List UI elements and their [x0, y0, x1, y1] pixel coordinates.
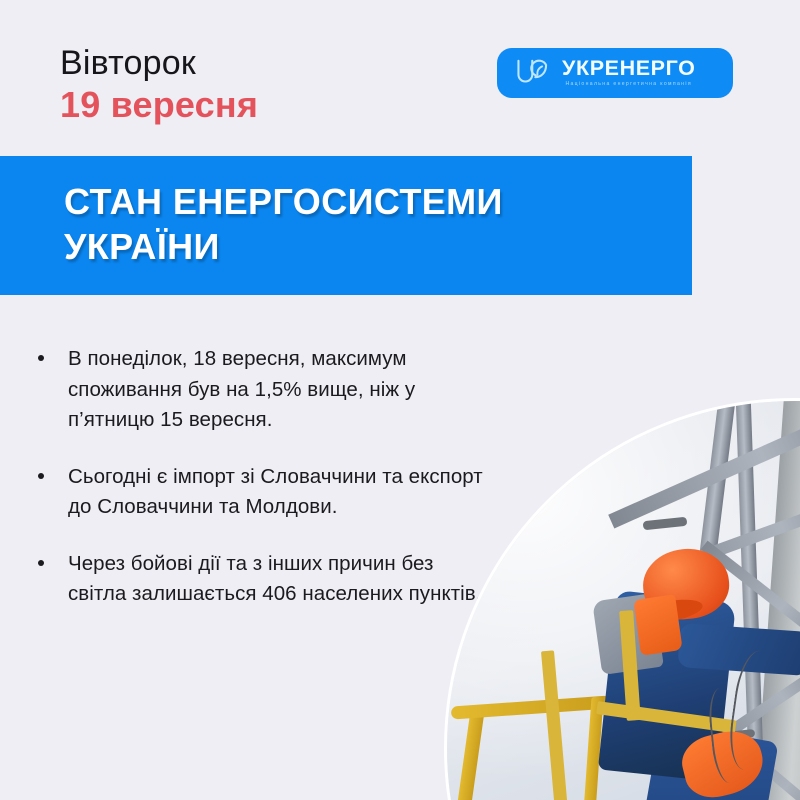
logo-text-group: УКРЕНЕРГО Національна енергетична компан…	[562, 58, 695, 88]
list-item-text: В понеділок, 18 вересня, максимум спожив…	[68, 347, 415, 431]
date-header: Вівторок 19 вересня	[60, 46, 258, 123]
photo-scene	[447, 401, 800, 800]
list-item: Сьогодні є імпорт зі Словаччини та експо…	[34, 462, 486, 523]
list-item-text: Сьогодні є імпорт зі Словаччини та експо…	[68, 465, 483, 519]
list-item-text: Через бойові дії та з інших причин без с…	[68, 552, 481, 606]
date-weekday: Вівторок	[60, 46, 258, 80]
bullet-dot-icon	[38, 560, 44, 566]
logo-subtitle: Національна енергетична компанія	[562, 82, 695, 87]
list-item: В понеділок, 18 вересня, максимум спожив…	[34, 344, 486, 436]
logo-wordmark: УКРЕНЕРГО	[562, 58, 695, 80]
lineman-in-bucket-lift-photo	[444, 398, 800, 800]
energy-system-status-poster: Вівторок 19 вересня УКРЕНЕРГО Національн…	[0, 0, 800, 800]
title-banner: Стан енергосистеми України	[0, 156, 692, 295]
date-day: 19 вересня	[60, 87, 258, 123]
ukrenergo-logo-badge: УКРЕНЕРГО Національна енергетична компан…	[497, 48, 733, 98]
bullet-dot-icon	[38, 473, 44, 479]
page-title: Стан енергосистеми України	[64, 180, 664, 269]
list-item: Через бойові дії та з інших причин без с…	[34, 549, 486, 610]
bullet-dot-icon	[38, 355, 44, 361]
ukrenergo-loop-icon	[515, 58, 553, 86]
status-bullet-list: В понеділок, 18 вересня, максимум спожив…	[34, 344, 486, 610]
worker-face-covering	[633, 594, 682, 655]
tower-fitting	[643, 517, 688, 531]
